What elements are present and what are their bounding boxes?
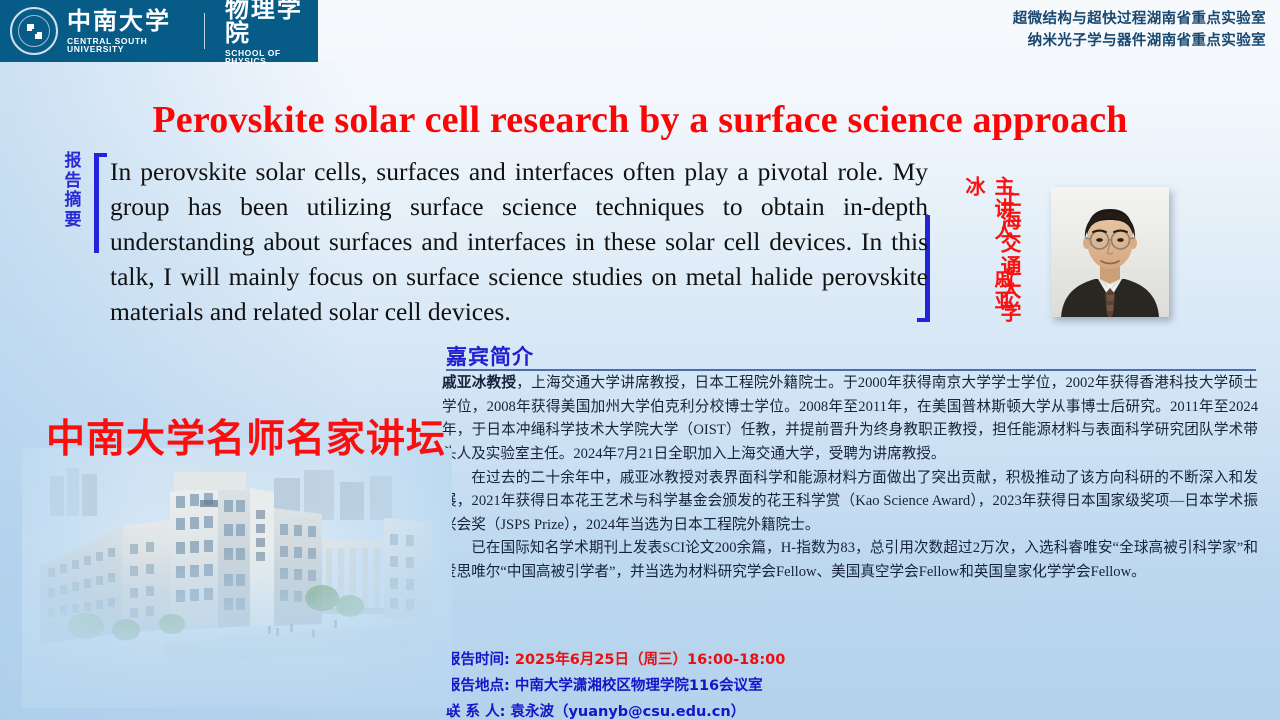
talk-title: Perovskite solar cell research by a surf… <box>0 98 1280 142</box>
bio-body: 戚亚冰教授，上海交通大学讲席教授，日本工程院外籍院士。于2000年获得南京大学学… <box>442 372 1258 585</box>
event-time-row: 报告时间: 2025年6月25日（周三）16:00-18:00 <box>446 648 785 674</box>
abstract-bracket-left <box>94 153 99 253</box>
university-name-en: CENTRAL SOUTH UNIVERSITY <box>67 37 193 54</box>
event-place-label: 报告地点: <box>446 678 510 694</box>
abstract-text: In perovskite solar cells, surfaces and … <box>110 155 928 330</box>
seminar-poster: 中南大学 CENTRAL SOUTH UNIVERSITY 物理学院 SCHOO… <box>0 0 1280 720</box>
event-time-value: 2025年6月25日（周三）16:00-18:00 <box>515 652 785 668</box>
event-contact-value: 袁永波（yuanyb@csu.edu.cn） <box>510 704 745 720</box>
csu-seal-icon <box>10 7 58 55</box>
university-name-group: 中南大学 CENTRAL SOUTH UNIVERSITY <box>67 9 193 54</box>
event-time-label: 报告时间: <box>446 652 510 668</box>
event-place-value: 中南大学潇湘校区物理学院116会议室 <box>515 678 763 694</box>
physics-building-photo <box>22 448 452 708</box>
university-name-cn: 中南大学 <box>67 9 193 33</box>
portrait-illustration <box>1051 187 1169 317</box>
school-name-group: 物理学院 SCHOOL OF PHYSICS <box>225 0 318 66</box>
event-info-block: 报告时间: 2025年6月25日（周三）16:00-18:00 报告地点: 中南… <box>446 648 785 720</box>
lab-line-1: 超微结构与超快过程湖南省重点实验室 <box>1013 8 1266 30</box>
speaker-affiliation-vertical: 上海交通大学 <box>995 186 1025 326</box>
bio-paragraph-1-text: ，上海交通大学讲席教授，日本工程院外籍院士。于2000年获得南京大学学士学位，2… <box>442 375 1258 462</box>
abstract-label: 报告摘要 <box>58 152 88 231</box>
bio-lead-name: 戚亚冰教授 <box>442 375 516 391</box>
seal-inner-mark-icon <box>27 24 42 39</box>
bio-paragraph-1: 戚亚冰教授，上海交通大学讲席教授，日本工程院外籍院士。于2000年获得南京大学学… <box>442 372 1258 467</box>
logo-divider <box>204 13 205 49</box>
school-name-cn: 物理学院 <box>225 0 318 45</box>
bio-heading-rule <box>446 369 1256 371</box>
bio-heading: 嘉宾简介 <box>446 341 534 371</box>
event-contact-label: 联 系 人: <box>446 704 505 720</box>
laboratory-names: 超微结构与超快过程湖南省重点实验室 纳米光子学与器件湖南省重点实验室 <box>1013 8 1266 53</box>
bio-paragraph-2: 在过去的二十余年中，戚亚冰教授对表界面科学和能源材料方面做出了突出贡献，积极推动… <box>442 467 1258 538</box>
lab-line-2: 纳米光子学与器件湖南省重点实验室 <box>1013 30 1266 52</box>
event-contact-row: 联 系 人: 袁永波（yuanyb@csu.edu.cn） <box>446 700 785 720</box>
event-place-row: 报告地点: 中南大学潇湘校区物理学院116会议室 <box>446 674 785 700</box>
building-illustration <box>22 448 452 708</box>
bio-paragraph-3: 已在国际知名学术期刊上发表SCI论文200余篇，H-指数为83，总引用次数超过2… <box>442 537 1258 584</box>
forum-title: 中南大学名师名家讲坛 <box>46 408 446 464</box>
university-logo-banner: 中南大学 CENTRAL SOUTH UNIVERSITY 物理学院 SCHOO… <box>0 0 318 62</box>
school-name-en: SCHOOL OF PHYSICS <box>225 49 318 66</box>
speaker-portrait <box>1051 187 1169 317</box>
